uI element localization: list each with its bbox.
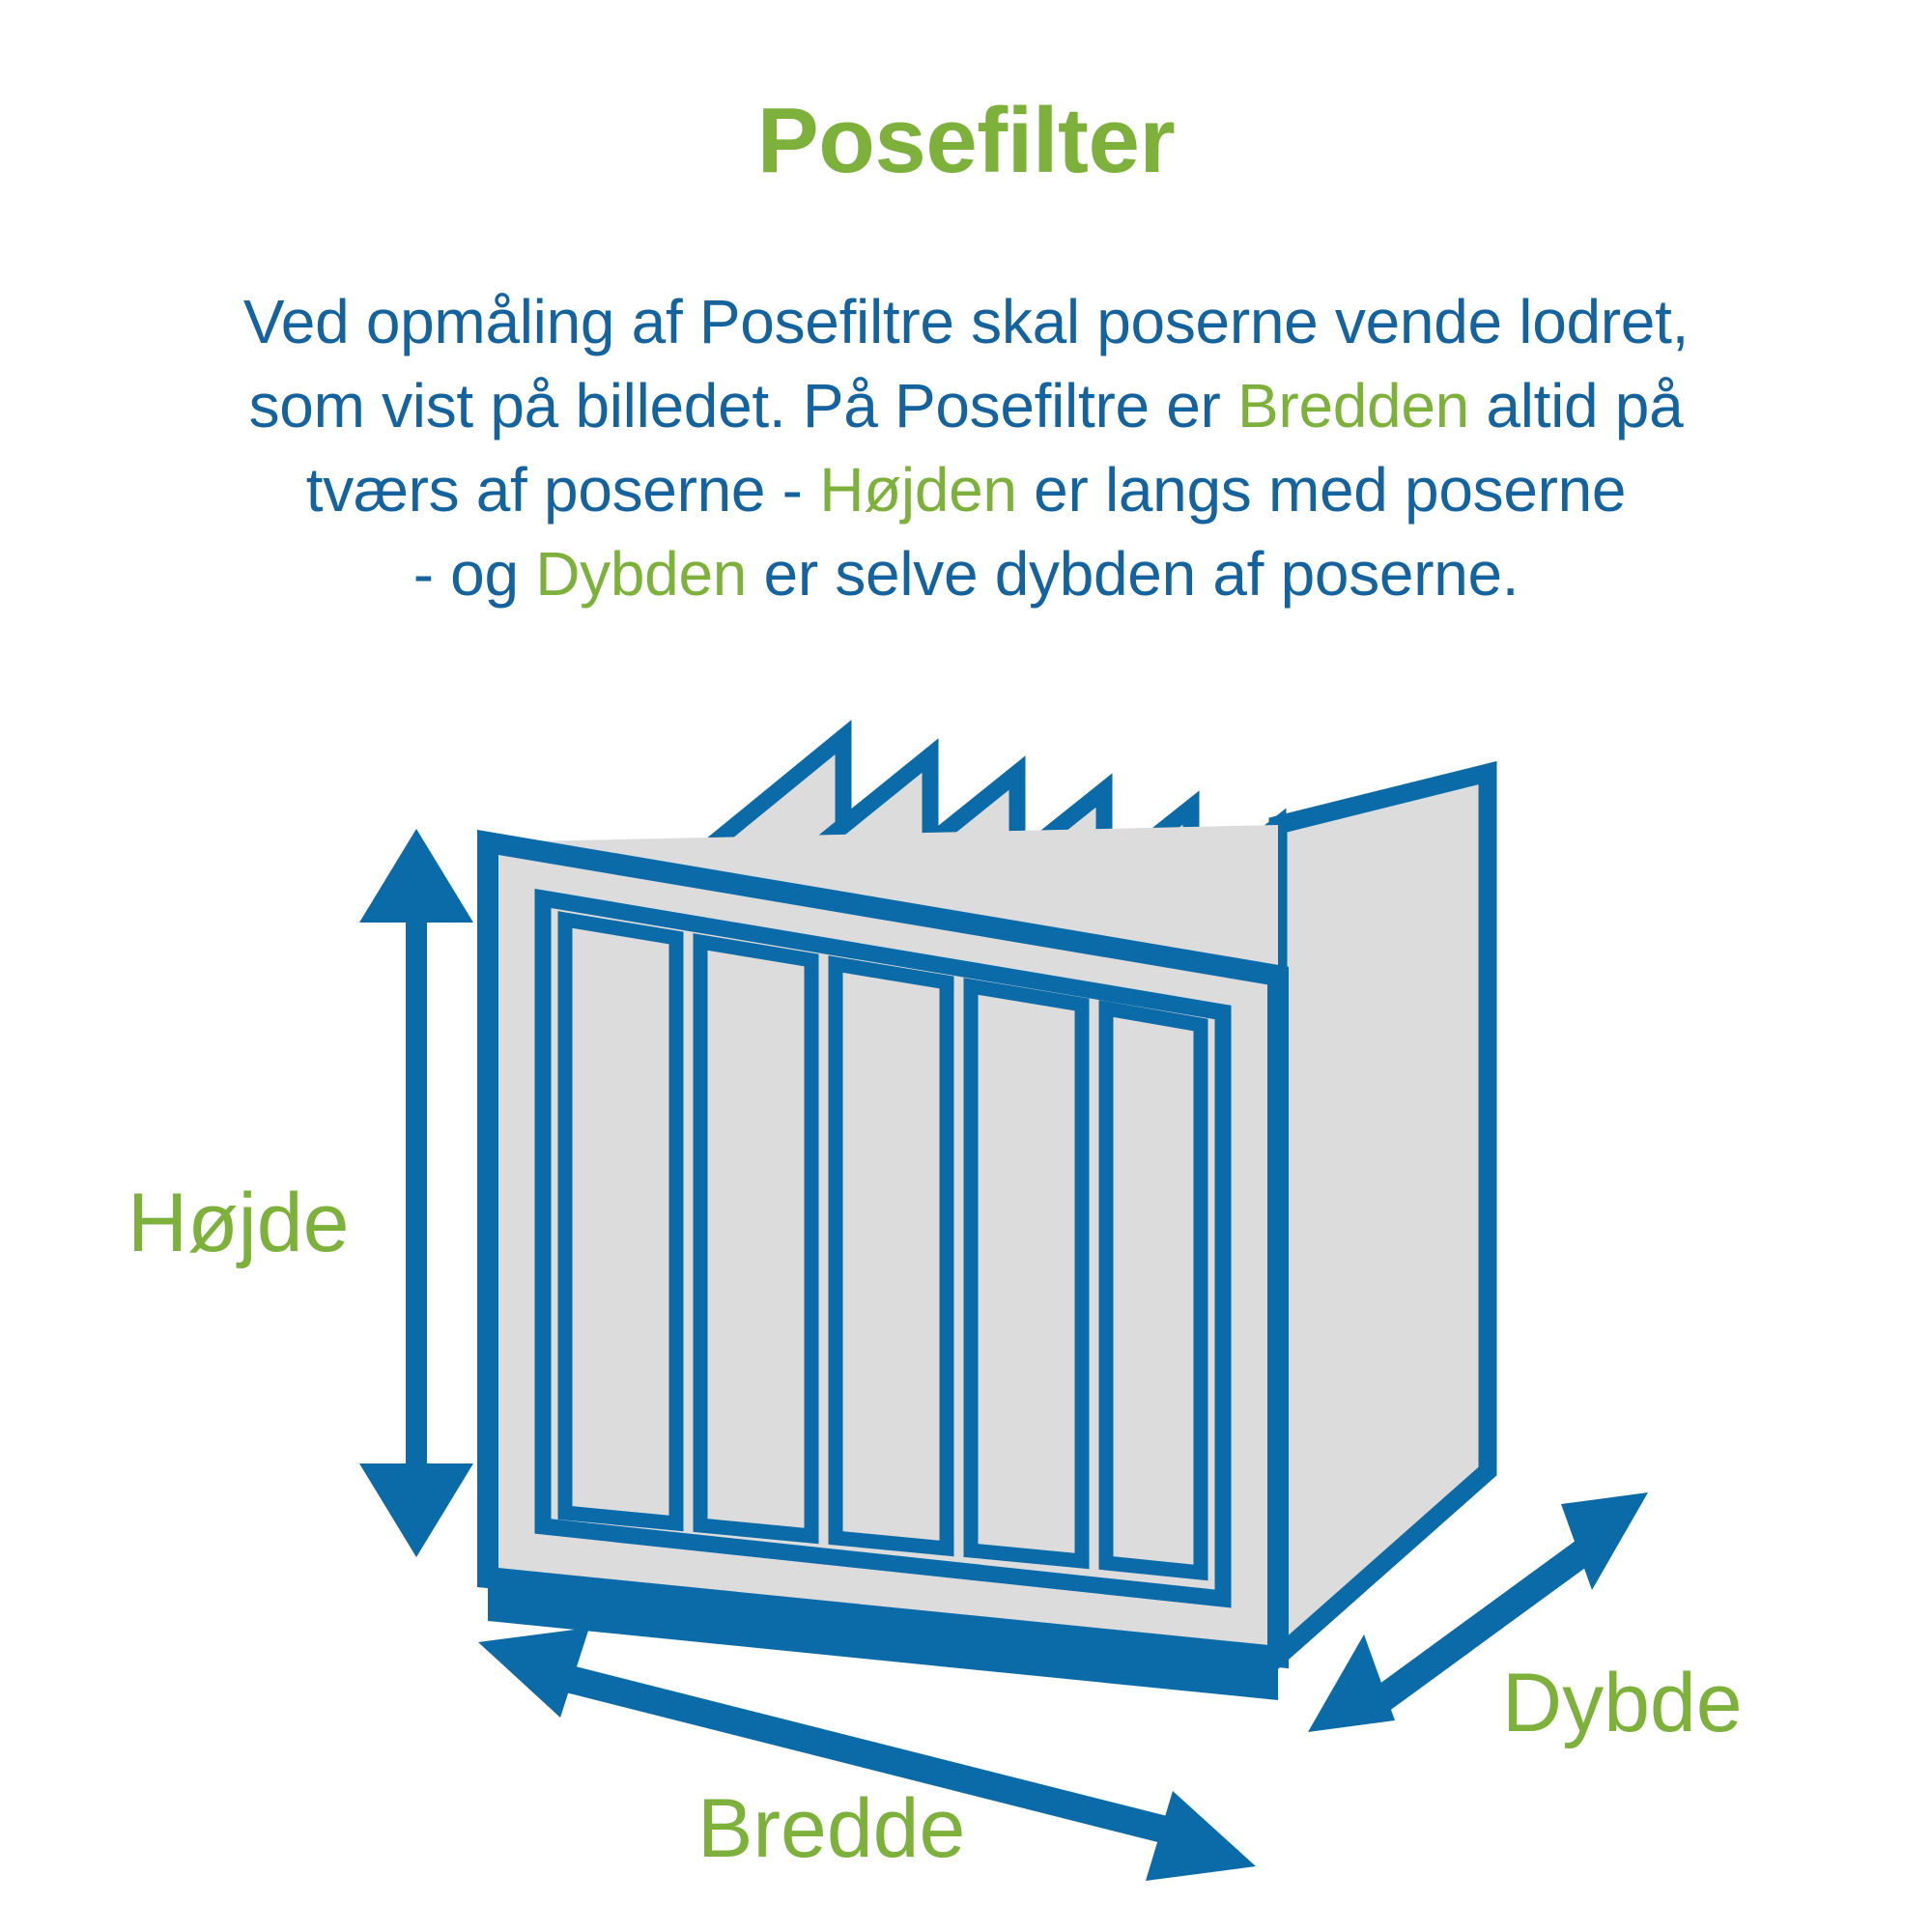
height-label: Højde (128, 1177, 349, 1269)
bag-panel-2 (700, 942, 811, 1536)
height-arrow-head-up (359, 829, 473, 923)
height-arrow-head-down (359, 1463, 473, 1557)
width-arrow-head-left (478, 1628, 589, 1718)
width-label: Bredde (697, 1782, 965, 1875)
height-dimension-arrow (359, 829, 473, 1557)
bag-filter-diagram: Højde Bredde Dybde (0, 0, 1932, 1932)
bag-panel-1 (565, 920, 676, 1523)
bag-filter-svg: Højde Bredde Dybde (0, 0, 1932, 1932)
depth-label: Dybde (1502, 1657, 1743, 1749)
width-arrow-head-right (1146, 1791, 1256, 1881)
page-root: Posefilter Ved opmåling af Posefiltre sk… (0, 0, 1932, 1932)
bag-panel-4 (971, 986, 1082, 1561)
filter-right-side-panel (1278, 773, 1488, 1657)
filter-front-bag-panels (565, 920, 1201, 1573)
bag-panel-3 (836, 964, 947, 1548)
bag-panel-5 (1106, 1009, 1201, 1573)
